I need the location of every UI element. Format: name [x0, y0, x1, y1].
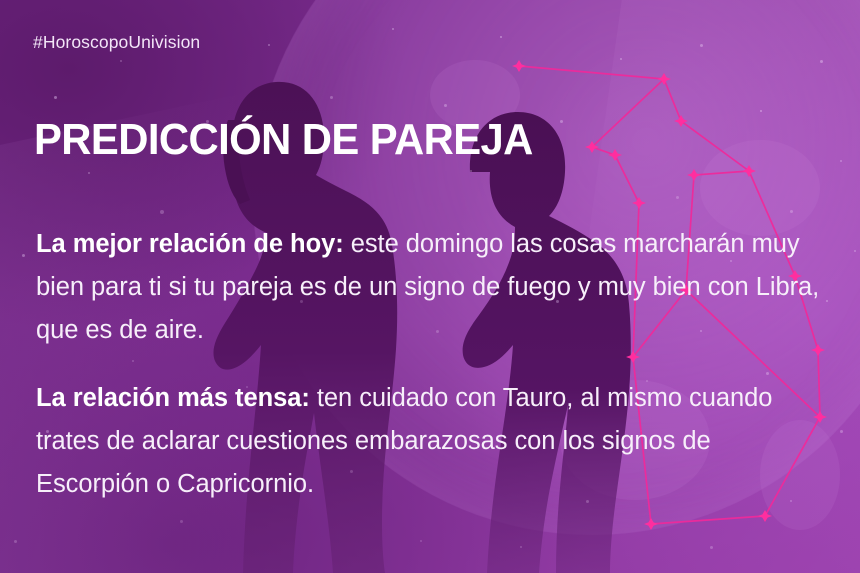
paragraph-best-relationship: La mejor relación de hoy: este domingo l…	[36, 223, 826, 352]
prediction-body: La mejor relación de hoy: este domingo l…	[36, 197, 826, 532]
paragraph-lead: La relación más tensa:	[36, 384, 310, 412]
paragraph-tense-relationship: La relación más tensa: ten cuidado con T…	[36, 377, 826, 506]
hashtag-label: #HoroscopoUnivision	[33, 32, 200, 53]
page-title: PREDICCIÓN DE PAREJA	[34, 118, 533, 162]
paragraph-lead: La mejor relación de hoy:	[36, 230, 344, 258]
horoscope-card: #HoroscopoUnivision PREDICCIÓN DE PAREJA…	[0, 0, 860, 573]
